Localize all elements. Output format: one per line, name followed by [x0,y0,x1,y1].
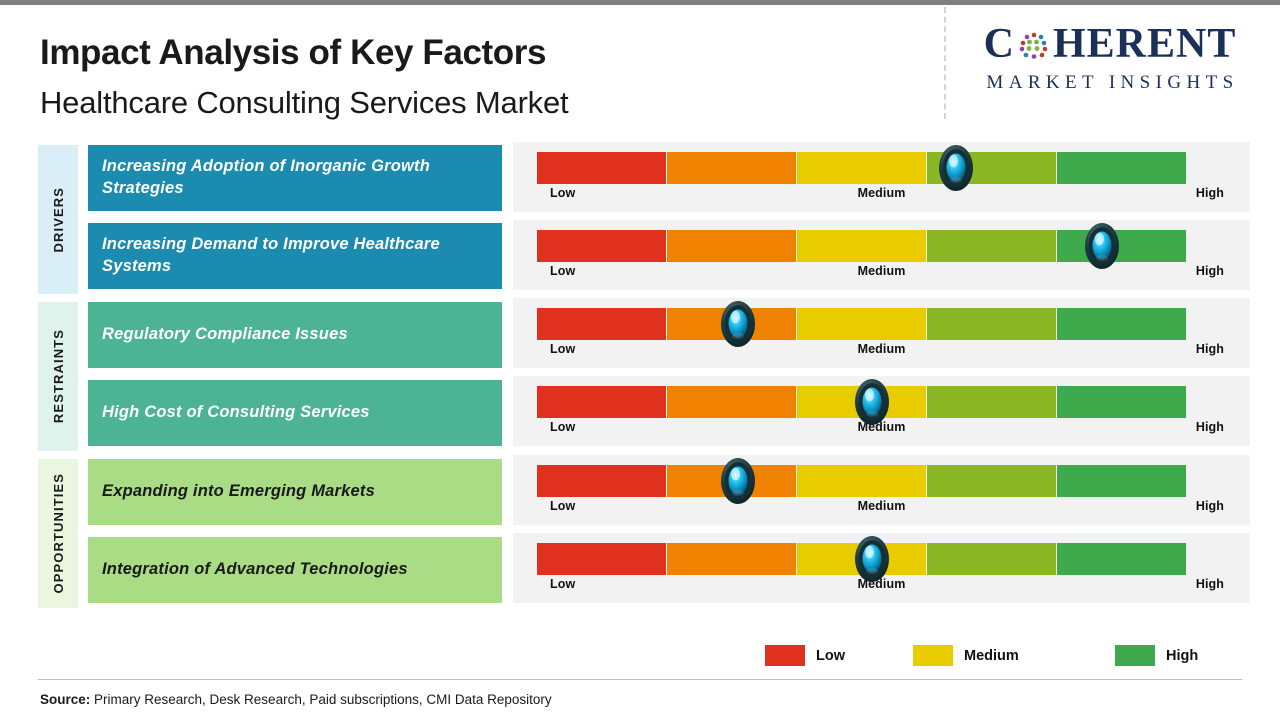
header: Impact Analysis of Key Factors Healthcar… [0,5,1280,130]
gauge-segment-1 [537,386,666,418]
legend-item: Low [765,645,845,666]
source-text: Primary Research, Desk Research, Paid su… [90,692,551,707]
gauge-segment-4 [927,465,1056,497]
gauge-bar [537,308,1186,340]
gauge-segment-1 [537,465,666,497]
gauge-segment-2 [667,152,796,184]
gauge-label-low: Low [550,264,575,278]
factor-label: Integration of Advanced Technologies [102,559,408,581]
gauge-segment-2 [667,386,796,418]
gauge-segment-3 [797,152,926,184]
gauge-segment-3 [797,543,926,575]
gauge-label-high: High [1196,420,1224,434]
category-band-restraints: RESTRAINTS [38,302,78,451]
gauge-segment-4 [927,308,1056,340]
gauge-panel: Low Medium High [513,220,1250,290]
gauge-scale-labels: Low Medium High [513,499,1250,521]
category-label-restraints: RESTRAINTS [51,329,66,423]
factor-box[interactable]: High Cost of Consulting Services [88,380,502,446]
logo-tagline: MARKET INSIGHTS [955,72,1265,94]
factor-box[interactable]: Expanding into Emerging Markets [88,459,502,525]
legend-swatch-medium [913,645,953,666]
gauge-label-low: Low [550,342,575,356]
globe-icon [1016,28,1052,64]
logo-divider [944,7,946,119]
gauge-segment-5 [1057,543,1186,575]
gauge-segment-4 [927,386,1056,418]
category-label-opportunities: OPPORTUNITIES [51,473,66,593]
factor-box[interactable]: Increasing Adoption of Inorganic Growth … [88,145,502,211]
factor-label: Regulatory Compliance Issues [102,324,348,346]
gauge-label-high: High [1196,186,1224,200]
legend-label: Medium [964,648,1019,664]
gauge-segment-5 [1057,465,1186,497]
source-note: Source: Primary Research, Desk Research,… [40,692,552,707]
gauge-bar [537,386,1186,418]
factor-label: Increasing Demand to Improve Healthcare … [102,234,488,278]
gauge-segment-1 [537,230,666,262]
gauge-label-high: High [1196,342,1224,356]
footer-divider [38,679,1242,680]
factor-label: Expanding into Emerging Markets [102,481,375,503]
source-label: Source: [40,692,90,707]
gauge-segment-1 [537,152,666,184]
factor-box[interactable]: Integration of Advanced Technologies [88,537,502,603]
infographic-page: Impact Analysis of Key Factors Healthcar… [0,0,1280,720]
gauge-scale-labels: Low Medium High [513,342,1250,364]
gauge-label-medium: Medium [858,264,906,278]
company-logo: C [955,23,1265,94]
gauge-segment-2 [667,465,796,497]
gauge-scale-labels: Low Medium High [513,186,1250,208]
category-band-drivers: DRIVERS [38,145,78,294]
gauge-label-low: Low [550,186,575,200]
gauge-bar [537,465,1186,497]
gauge-panel: Low Medium High [513,533,1250,603]
legend-swatch-low [765,645,805,666]
gauge-scale-labels: Low Medium High [513,577,1250,599]
legend-swatch-high [1115,645,1155,666]
gauge-panel: Low Medium High [513,376,1250,446]
gauge-segment-3 [797,386,926,418]
gauge-segment-3 [797,465,926,497]
gauge-panel: Low Medium High [513,298,1250,368]
gauge-segment-5 [1057,152,1186,184]
gauge-bar [537,152,1186,184]
gauge-segment-1 [537,308,666,340]
page-title: Impact Analysis of Key Factors [40,33,546,73]
gauge-bar [537,543,1186,575]
gauge-label-medium: Medium [858,499,906,513]
logo-letter-c: C [984,23,1015,65]
gauge-segment-1 [537,543,666,575]
gauge-segment-4 [927,152,1056,184]
gauge-label-medium: Medium [858,577,906,591]
gauge-segment-5 [1057,230,1186,262]
gauge-segment-2 [667,543,796,575]
gauge-segment-5 [1057,386,1186,418]
legend-label: Low [816,648,845,664]
gauge-label-low: Low [550,420,575,434]
gauge-scale-labels: Low Medium High [513,264,1250,286]
gauge-label-high: High [1196,499,1224,513]
legend: Low Medium High [765,645,1225,669]
factor-label: Increasing Adoption of Inorganic Growth … [102,156,488,200]
factor-label: High Cost of Consulting Services [102,402,370,424]
gauge-segment-3 [797,230,926,262]
gauge-bar [537,230,1186,262]
gauge-label-low: Low [550,577,575,591]
factor-box[interactable]: Regulatory Compliance Issues [88,302,502,368]
gauge-label-medium: Medium [858,186,906,200]
legend-item: High [1115,645,1198,666]
logo-letters-herent: HERENT [1053,23,1236,65]
gauge-label-low: Low [550,499,575,513]
category-band-opportunities: OPPORTUNITIES [38,459,78,608]
gauge-segment-2 [667,308,796,340]
gauge-label-high: High [1196,577,1224,591]
page-subtitle: Healthcare Consulting Services Market [40,85,568,121]
gauge-panel: Low Medium High [513,142,1250,212]
category-label-drivers: DRIVERS [51,187,66,253]
factor-box[interactable]: Increasing Demand to Improve Healthcare … [88,223,502,289]
logo-wordmark: C [955,23,1265,65]
gauge-segment-4 [927,230,1056,262]
gauge-label-medium: Medium [858,342,906,356]
legend-label: High [1166,648,1198,664]
gauge-scale-labels: Low Medium High [513,420,1250,442]
gauge-segment-4 [927,543,1056,575]
gauge-label-high: High [1196,264,1224,278]
gauge-segment-5 [1057,308,1186,340]
gauge-segment-2 [667,230,796,262]
gauge-segment-3 [797,308,926,340]
legend-item: Medium [913,645,1019,666]
gauge-panel: Low Medium High [513,455,1250,525]
gauge-label-medium: Medium [858,420,906,434]
